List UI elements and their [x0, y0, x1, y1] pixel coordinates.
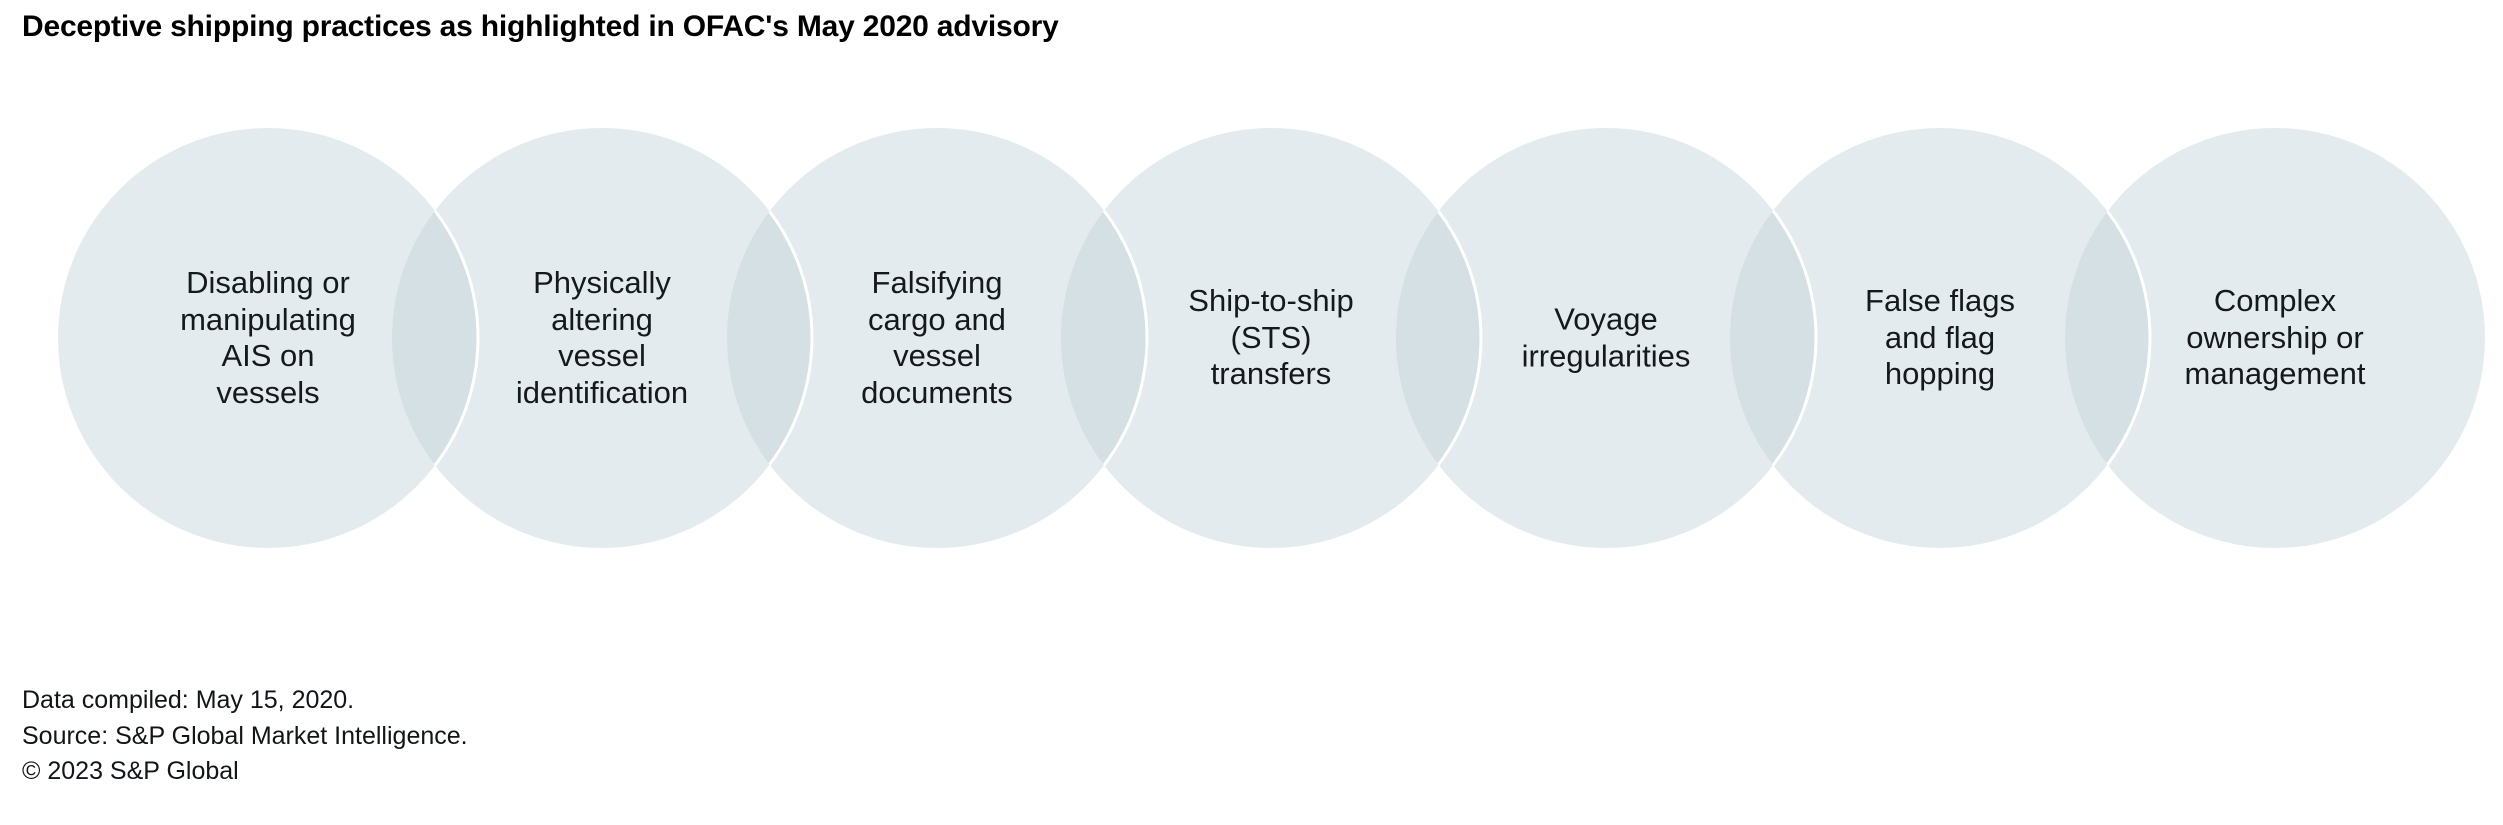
circles-svg — [0, 0, 2503, 640]
footnote-source: Source: S&P Global Market Intelligence. — [22, 719, 468, 755]
footnotes: Data compiled: May 15, 2020. Source: S&P… — [22, 683, 468, 790]
footnote-copyright: © 2023 S&P Global — [22, 754, 468, 790]
chart-canvas: Deceptive shipping practices as highligh… — [0, 0, 2503, 825]
overlapping-circles-diagram: Disabling or manipulating AIS on vessels… — [0, 0, 2503, 640]
footnote-data-compiled: Data compiled: May 15, 2020. — [22, 683, 468, 719]
